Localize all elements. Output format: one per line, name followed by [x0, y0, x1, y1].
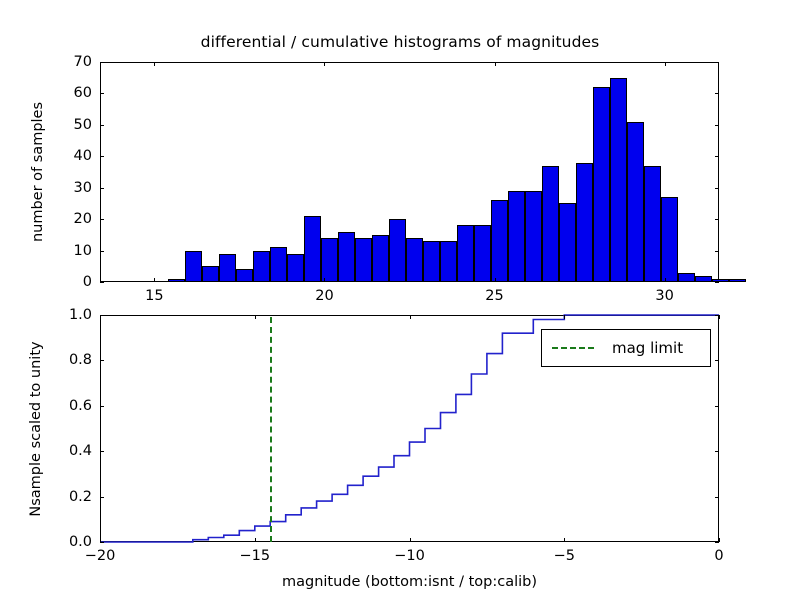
bottom-axis-y-label: Nsample scaled to unity: [28, 341, 44, 516]
figure-x-label: magnitude (bottom:isnt / top:calib): [282, 574, 537, 590]
y-tick-mark: [715, 542, 719, 543]
cumulative-step-curve: [0, 0, 800, 600]
x-tick-mark: [564, 538, 565, 542]
y-tick-mark: [715, 497, 719, 498]
x-tick-mark: [719, 538, 720, 542]
x-tick-mark: [255, 315, 256, 319]
bottom-x-tick-label: −15: [239, 548, 270, 564]
y-tick-mark: [100, 497, 104, 498]
mag-limit-vline: [270, 317, 272, 542]
y-tick-mark: [715, 360, 719, 361]
y-tick-mark: [100, 406, 104, 407]
bottom-y-tick-label: 0.2: [52, 489, 92, 505]
bottom-y-tick-label: 1.0: [52, 307, 92, 323]
y-tick-mark: [100, 315, 104, 316]
x-tick-mark: [719, 315, 720, 319]
bottom-y-tick-label: 0.6: [52, 398, 92, 414]
bottom-x-tick-label: 0: [714, 548, 723, 564]
x-tick-mark: [410, 315, 411, 319]
legend-item-label: mag limit: [612, 339, 683, 357]
y-tick-mark: [100, 360, 104, 361]
x-tick-mark: [564, 315, 565, 319]
y-tick-mark: [100, 542, 104, 543]
y-tick-mark: [715, 406, 719, 407]
bottom-x-tick-label: −10: [394, 548, 425, 564]
x-tick-mark: [410, 538, 411, 542]
bottom-x-tick-label: −20: [85, 548, 116, 564]
y-tick-mark: [715, 315, 719, 316]
mag-limit-legend-swatch-icon: [552, 347, 594, 349]
bottom-y-tick-label: 0.8: [52, 352, 92, 368]
bottom-x-tick-label: −5: [554, 548, 575, 564]
figure-canvas: differential / cumulative histograms of …: [0, 0, 800, 600]
bottom-y-tick-label: 0.0: [52, 534, 92, 550]
y-tick-mark: [100, 451, 104, 452]
legend: mag limit: [541, 329, 711, 367]
bottom-y-tick-label: 0.4: [52, 443, 92, 459]
y-tick-mark: [715, 451, 719, 452]
x-tick-mark: [255, 538, 256, 542]
